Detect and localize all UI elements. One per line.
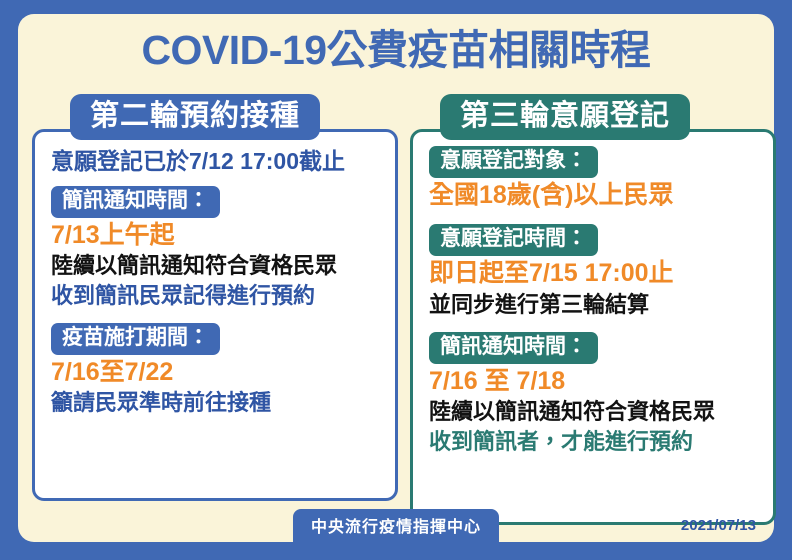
spacer xyxy=(51,177,381,186)
panel-third-round: 第三輪意願登記 意願登記對象： 全國18歲(含)以上民眾 意願登記時間： 即日起… xyxy=(410,94,776,525)
second-round-headline: 意願登記已於7/12 17:00截止 xyxy=(51,146,381,177)
value-registration-time: 即日起至7/15 17:00止 xyxy=(429,257,759,290)
panel-second-round: 第二輪預約接種 意願登記已於7/12 17:00截止 簡訊通知時間： 7/13上… xyxy=(32,94,398,501)
panel-header-second-round: 第二輪預約接種 xyxy=(70,94,320,140)
label-vaccination-period: 疫苗施打期間： xyxy=(51,323,220,355)
block-sms-notice-time-third: 簡訊通知時間： 7/16 至 7/18 陸續以簡訊通知符合資格民眾 收到簡訊者，… xyxy=(429,332,759,456)
footer-date: 2021/07/13 xyxy=(681,517,756,534)
panel-body-third-round: 意願登記對象： 全國18歲(含)以上民眾 意願登記時間： 即日起至7/15 17… xyxy=(410,129,776,525)
spacer xyxy=(429,319,759,332)
detail-sms-notice-time-third: 陸續以簡訊通知符合資格民眾 xyxy=(429,397,759,426)
value-registration-target: 全國18歲(含)以上民眾 xyxy=(429,179,759,212)
block-registration-target: 意願登記對象： 全國18歲(含)以上民眾 xyxy=(429,146,759,211)
label-sms-notice-time-third: 簡訊通知時間： xyxy=(429,332,598,364)
value-vaccination-period: 7/16至7/22 xyxy=(51,356,381,389)
note-sms-notice-time: 收到簡訊民眾記得進行預約 xyxy=(51,281,381,310)
detail-sms-notice-time: 陸續以簡訊通知符合資格民眾 xyxy=(51,251,381,280)
label-registration-target: 意願登記對象： xyxy=(429,146,598,178)
note-vaccination-period: 籲請民眾準時前往接種 xyxy=(51,388,381,417)
block-registration-time: 意願登記時間： 即日起至7/15 17:00止 並同步進行第三輪結算 xyxy=(429,224,759,319)
label-registration-time: 意願登記時間： xyxy=(429,224,598,256)
detail-registration-time: 並同步進行第三輪結算 xyxy=(429,290,759,319)
label-sms-notice-time: 簡訊通知時間： xyxy=(51,186,220,218)
page-title: COVID-19公費疫苗相關時程 xyxy=(18,28,774,73)
footer-organization-tab: 中央流行疫情指揮中心 xyxy=(293,509,499,542)
block-vaccination-period: 疫苗施打期間： 7/16至7/22 籲請民眾準時前往接種 xyxy=(51,323,381,418)
value-sms-notice-time-third: 7/16 至 7/18 xyxy=(429,365,759,398)
spacer xyxy=(51,310,381,323)
panel-header-third-round: 第三輪意願登記 xyxy=(440,94,690,140)
poster-card: COVID-19公費疫苗相關時程 第二輪預約接種 意願登記已於7/12 17:0… xyxy=(18,14,774,542)
spacer xyxy=(429,211,759,224)
block-sms-notice-time: 簡訊通知時間： 7/13上午起 陸續以簡訊通知符合資格民眾 收到簡訊民眾記得進行… xyxy=(51,186,381,310)
value-sms-notice-time: 7/13上午起 xyxy=(51,219,381,252)
panel-body-second-round: 意願登記已於7/12 17:00截止 簡訊通知時間： 7/13上午起 陸續以簡訊… xyxy=(32,129,398,501)
note-sms-notice-time-third: 收到簡訊者，才能進行預約 xyxy=(429,427,759,456)
